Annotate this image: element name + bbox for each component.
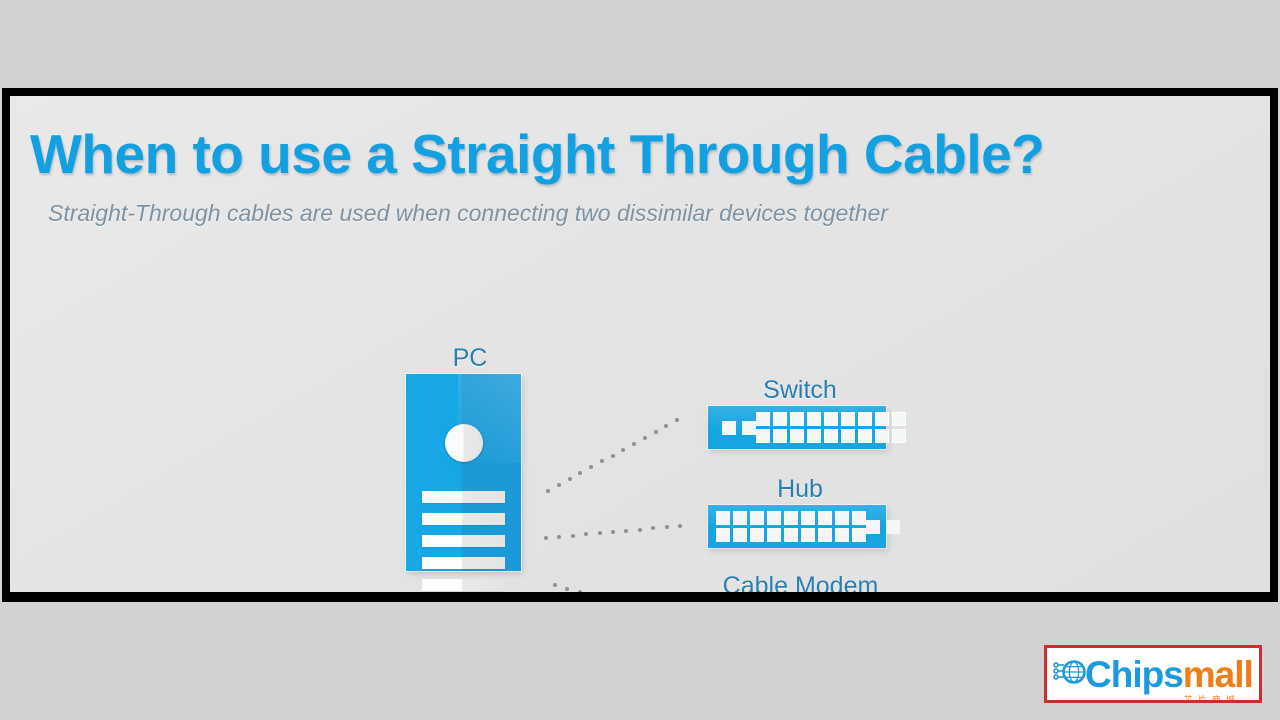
slide-frame: When to use a Straight Through Cable? St… [2, 88, 1278, 602]
connector-dot [632, 442, 636, 446]
device-port [790, 429, 804, 443]
connector-dot [638, 528, 642, 532]
connector-dot [598, 531, 602, 535]
device-label-hub: Hub [710, 475, 890, 504]
device-port [818, 528, 832, 542]
device-port [841, 429, 855, 443]
connector-dot [557, 483, 561, 487]
page-title: When to use a Straight Through Cable? [30, 122, 1260, 186]
device-pc-tower [406, 374, 521, 571]
device-port [824, 412, 838, 426]
device-port [716, 511, 730, 525]
device-port [790, 412, 804, 426]
wordmark-mall-group: mall 芯片商城 [1183, 656, 1253, 693]
device-led [866, 520, 880, 534]
page-subtitle: Straight-Through cables are used when co… [48, 200, 888, 227]
device-port [892, 429, 906, 443]
connector-dot [565, 587, 569, 591]
device-port [756, 429, 770, 443]
device-port [875, 412, 889, 426]
device-led [742, 421, 756, 435]
device-port [835, 528, 849, 542]
pc-vent-stack [422, 491, 505, 591]
connector-dot [624, 529, 628, 533]
device-port [807, 429, 821, 443]
power-button-icon [445, 424, 483, 462]
pc-vent-bar [422, 579, 505, 591]
wordmark-chips: Chips [1085, 656, 1183, 693]
switch-led-pair [722, 421, 756, 435]
device-port [733, 528, 747, 542]
connector-dot [584, 532, 588, 536]
connector-dot [557, 535, 561, 539]
device-label-cable-modem: Cable Modem [698, 572, 903, 592]
device-port [716, 528, 730, 542]
connector-dot [600, 459, 604, 463]
device-port [892, 412, 906, 426]
device-port [750, 528, 764, 542]
device-port [835, 511, 849, 525]
hub-port-grid [716, 511, 866, 542]
wordmark-mall: mall [1183, 654, 1253, 695]
device-port [875, 429, 889, 443]
connector-dot [675, 418, 679, 422]
device-label-pc: PC [405, 344, 535, 373]
connector-dot [546, 489, 550, 493]
device-port [858, 429, 872, 443]
device-port [784, 528, 798, 542]
wordmark-chinese-text: 芯片商城 [1184, 697, 1254, 704]
device-port [801, 511, 815, 525]
switch-port-grid [756, 412, 906, 443]
connector-dot [544, 536, 548, 540]
connector-dot [589, 465, 593, 469]
globe-circuit-icon [1053, 657, 1087, 691]
device-led [886, 520, 900, 534]
pc-vent-bar [422, 491, 505, 503]
connector-dot [643, 436, 647, 440]
hub-led-pair [866, 520, 900, 534]
screenshot-root: When to use a Straight Through Cable? St… [0, 0, 1280, 720]
device-port [773, 412, 787, 426]
device-port [750, 511, 764, 525]
pc-vent-bar [422, 535, 505, 547]
connector-dot [571, 534, 575, 538]
connector-dot [578, 590, 582, 592]
device-switch [708, 406, 886, 449]
device-port [852, 511, 866, 525]
connector-dot [651, 526, 655, 530]
connector-dot [568, 477, 572, 481]
pc-vent-bar [422, 557, 505, 569]
connector-dot [578, 471, 582, 475]
connector-dot [621, 448, 625, 452]
device-hub [708, 505, 886, 548]
connector-dot [611, 530, 615, 534]
connector-dot [654, 430, 658, 434]
device-port [818, 511, 832, 525]
device-port [807, 412, 821, 426]
device-port [801, 528, 815, 542]
connector-dot [678, 524, 682, 528]
connector-dot [664, 424, 668, 428]
device-port [858, 412, 872, 426]
device-port [784, 511, 798, 525]
device-port [841, 412, 855, 426]
device-port [767, 528, 781, 542]
device-port [773, 429, 787, 443]
device-led [722, 421, 736, 435]
device-label-switch: Switch [710, 376, 890, 405]
device-port [733, 511, 747, 525]
device-port [852, 528, 866, 542]
chipsmall-watermark: Chips mall 芯片商城 [1044, 645, 1262, 703]
slide-canvas: When to use a Straight Through Cable? St… [10, 96, 1270, 592]
device-port [767, 511, 781, 525]
connector-dot [665, 525, 669, 529]
pc-vent-bar [422, 513, 505, 525]
device-port [824, 429, 838, 443]
connector-dot [611, 454, 615, 458]
connector-dot [553, 583, 557, 587]
chipsmall-wordmark: Chips mall 芯片商城 [1085, 656, 1253, 693]
device-port [756, 412, 770, 426]
